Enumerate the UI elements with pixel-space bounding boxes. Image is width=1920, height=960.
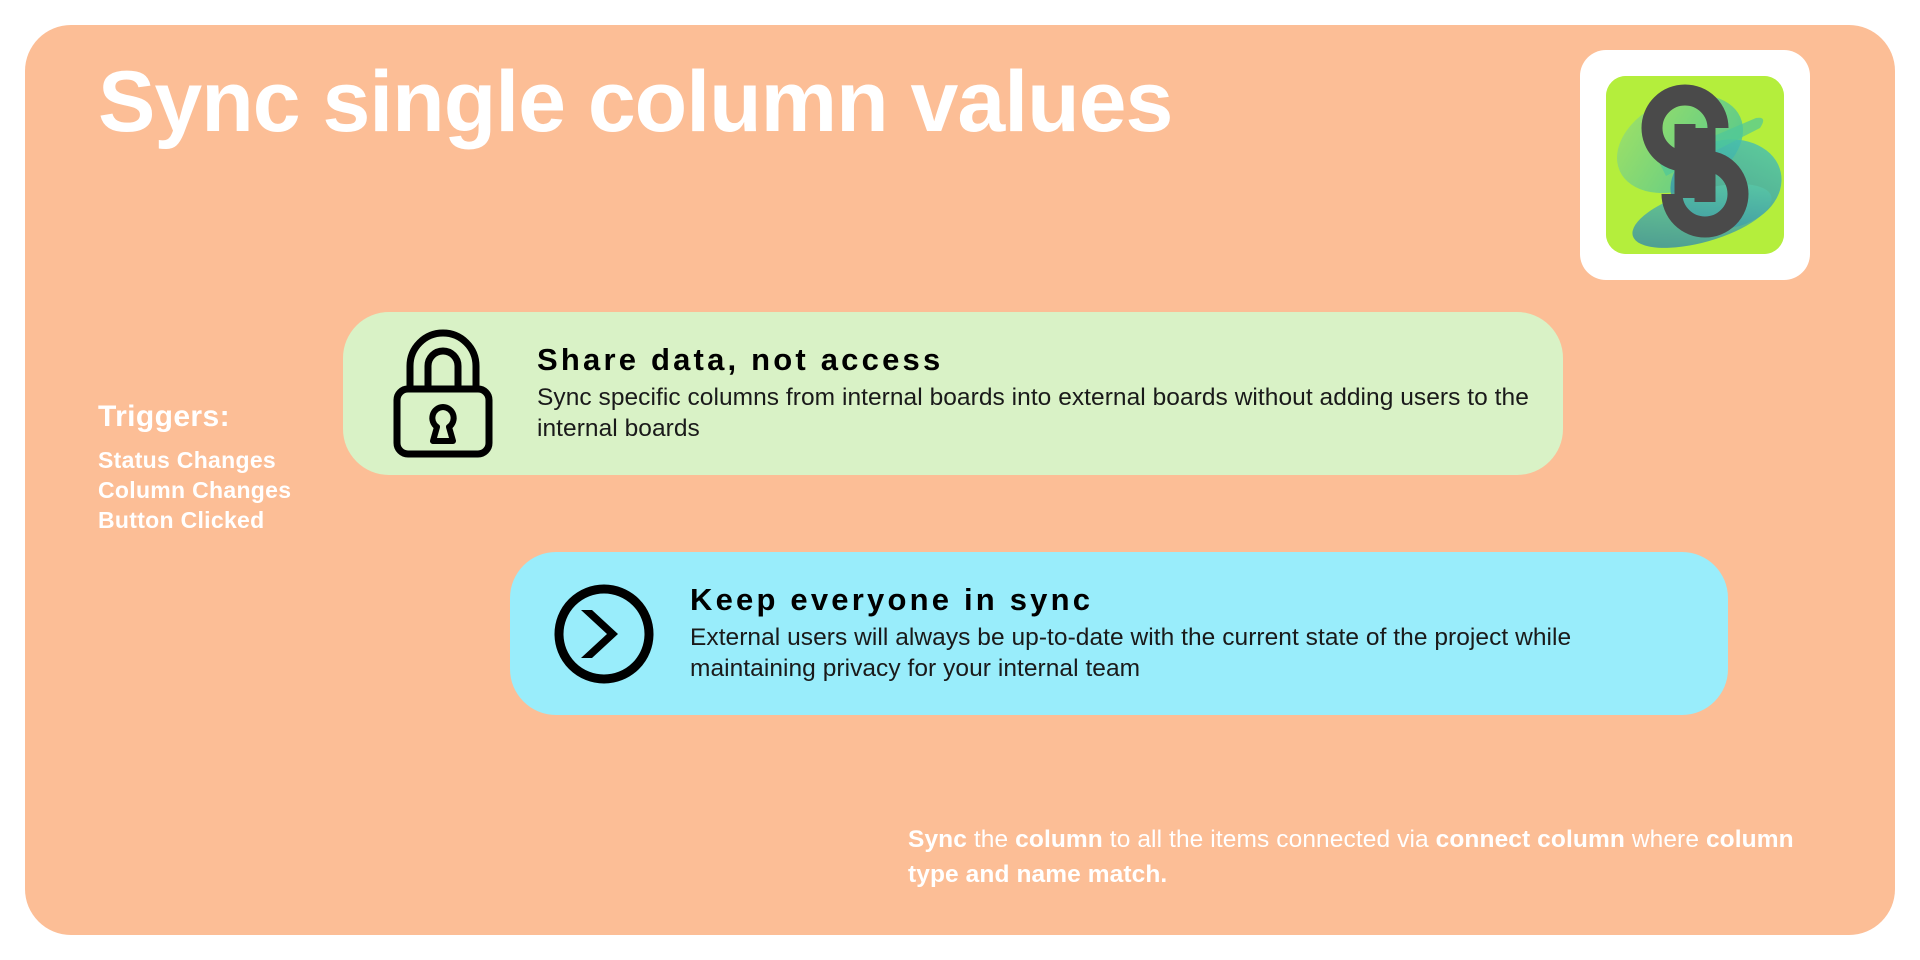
app-logo-artwork	[1606, 76, 1784, 254]
feature-card-description: Sync specific columns from internal boar…	[537, 383, 1533, 445]
feature-card-title: Share data, not access	[537, 343, 1533, 377]
circle-chevron-right-icon-glyph	[552, 582, 656, 686]
footer-note-segment-4: connect column	[1436, 826, 1625, 853]
footer-note-segment-3: to all the items connected via	[1103, 826, 1436, 853]
triggers-heading: Triggers:	[98, 400, 378, 435]
feature-card-body: Share data, not access Sync specific col…	[537, 343, 1533, 445]
feature-card-title: Keep everyone in sync	[690, 583, 1698, 617]
trigger-item-column-changes: Column Changes	[98, 475, 378, 505]
triggers-panel: Triggers: Status Changes Column Changes …	[98, 400, 378, 536]
footer-note-segment-5: where	[1625, 826, 1706, 853]
footer-note-segment-0: Sync	[908, 826, 967, 853]
padlock-icon-glyph	[391, 328, 495, 460]
page-title: Sync single column values	[98, 57, 1172, 147]
feature-card-description: External users will always be up-to-date…	[690, 623, 1698, 685]
footer-note-segment-2: column	[1015, 826, 1103, 853]
footer-note: Sync the column to all the items connect…	[908, 823, 1808, 893]
app-logo-tile	[1606, 76, 1784, 254]
feature-card-body: Keep everyone in sync External users wil…	[690, 583, 1698, 685]
circle-chevron-right-icon	[552, 582, 656, 686]
feature-card-share-data: Share data, not access Sync specific col…	[343, 312, 1563, 475]
padlock-icon	[391, 328, 495, 460]
poster-canvas: Sync single column values	[25, 25, 1895, 935]
footer-note-segment-1: the	[967, 826, 1015, 853]
app-logo	[1580, 50, 1810, 280]
trigger-item-status-changes: Status Changes	[98, 445, 378, 475]
feature-card-keep-in-sync: Keep everyone in sync External users wil…	[510, 552, 1728, 715]
trigger-item-button-clicked: Button Clicked	[98, 505, 378, 535]
